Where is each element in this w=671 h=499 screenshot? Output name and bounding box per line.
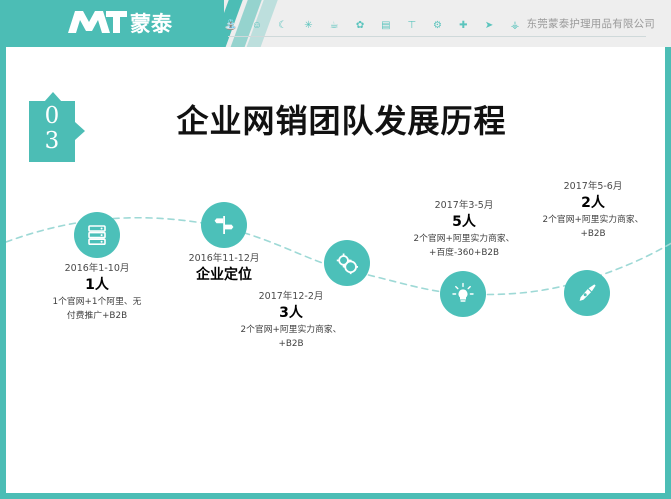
timeline-node-1[interactable] bbox=[74, 212, 120, 258]
timeline-caption-2: 2016年11-12月 企业定位 bbox=[149, 252, 299, 285]
signpost-icon bbox=[212, 213, 236, 237]
moon-icon: ☾ bbox=[276, 21, 290, 31]
lightbulb-icon: ☺ bbox=[250, 21, 264, 31]
tack-icon: ⊤ bbox=[405, 21, 419, 31]
node-5-people: 2人 bbox=[518, 194, 668, 213]
header-divider bbox=[228, 36, 646, 37]
logo-mt-mark bbox=[66, 9, 128, 40]
timeline-node-3[interactable] bbox=[324, 240, 370, 286]
node-3-people: 3人 bbox=[216, 304, 366, 323]
slide-header: 蒙泰 ⛲ ☺ ☾ ✳ ☕ ✿ ▤ ⊤ ⚙ ✚ ➤ ⚶ 东莞蒙泰护理用品有限公司 bbox=[6, 0, 671, 47]
node-1-desc-line2: 付费推广+B2B bbox=[22, 309, 172, 323]
timeline-node-4[interactable] bbox=[440, 271, 486, 317]
node-3-date: 2017年12-2月 bbox=[216, 290, 366, 304]
cup-icon: ☕ bbox=[327, 21, 341, 31]
company-logo: 蒙泰 bbox=[66, 10, 172, 38]
node-5-date: 2017年5-6月 bbox=[518, 180, 668, 194]
timeline-caption-5: 2017年5-6月 2人 2个官网+阿里实力商家、 +B2B bbox=[518, 180, 668, 241]
timeline-caption-4: 2017年3-5月 5人 2个官网+阿里实力商家、 +百度-360+B2B bbox=[389, 199, 539, 260]
node-4-date: 2017年3-5月 bbox=[389, 199, 539, 213]
gears-icon bbox=[335, 251, 360, 276]
node-5-desc-line1: 2个官网+阿里实力商家、 bbox=[518, 213, 668, 227]
bag-icon: ⚶ bbox=[508, 21, 522, 31]
bed-icon: ▤ bbox=[379, 21, 393, 31]
server-icon bbox=[85, 223, 109, 247]
header-icon-row: ⛲ ☺ ☾ ✳ ☕ ✿ ▤ ⊤ ⚙ ✚ ➤ ⚶ bbox=[224, 18, 522, 34]
node-4-desc-line2: +百度-360+B2B bbox=[389, 246, 539, 260]
cross-icon: ✚ bbox=[456, 21, 470, 31]
timeline-stage: 2016年1-10月 1人 1个官网+1个阿里、无 付费推广+B2B 2016年… bbox=[6, 170, 671, 380]
page-title: 企业网销团队发展历程 bbox=[6, 96, 671, 142]
timeline-node-5[interactable] bbox=[564, 270, 610, 316]
node-2-people: 企业定位 bbox=[149, 266, 299, 285]
node-2-date: 2016年11-12月 bbox=[149, 252, 299, 266]
plant-icon: ✳ bbox=[301, 21, 315, 31]
slide-canvas: 蒙泰 ⛲ ☺ ☾ ✳ ☕ ✿ ▤ ⊤ ⚙ ✚ ➤ ⚶ 东莞蒙泰护理用品有限公司 … bbox=[0, 0, 671, 499]
node-5-desc-line2: +B2B bbox=[518, 227, 668, 241]
pen-nib-icon bbox=[575, 281, 599, 305]
logo-text: 蒙泰 bbox=[130, 11, 172, 37]
droplet-icon: ✿ bbox=[353, 21, 367, 31]
bird-icon: ➤ bbox=[482, 21, 496, 31]
node-3-desc-line2: +B2B bbox=[216, 337, 366, 351]
chair-icon: ⚙ bbox=[431, 21, 445, 31]
node-1-desc-line1: 1个官网+1个阿里、无 bbox=[22, 295, 172, 309]
company-name: 东莞蒙泰护理用品有限公司 bbox=[527, 17, 655, 31]
node-4-desc-line1: 2个官网+阿里实力商家、 bbox=[389, 232, 539, 246]
node-4-people: 5人 bbox=[389, 213, 539, 232]
timeline-node-2[interactable] bbox=[201, 202, 247, 248]
lightbulb-icon bbox=[451, 282, 475, 306]
node-3-desc-line1: 2个官网+阿里实力商家、 bbox=[216, 323, 366, 337]
timeline-caption-3: 2017年12-2月 3人 2个官网+阿里实力商家、 +B2B bbox=[216, 290, 366, 351]
shop-icon: ⛲ bbox=[224, 21, 238, 31]
